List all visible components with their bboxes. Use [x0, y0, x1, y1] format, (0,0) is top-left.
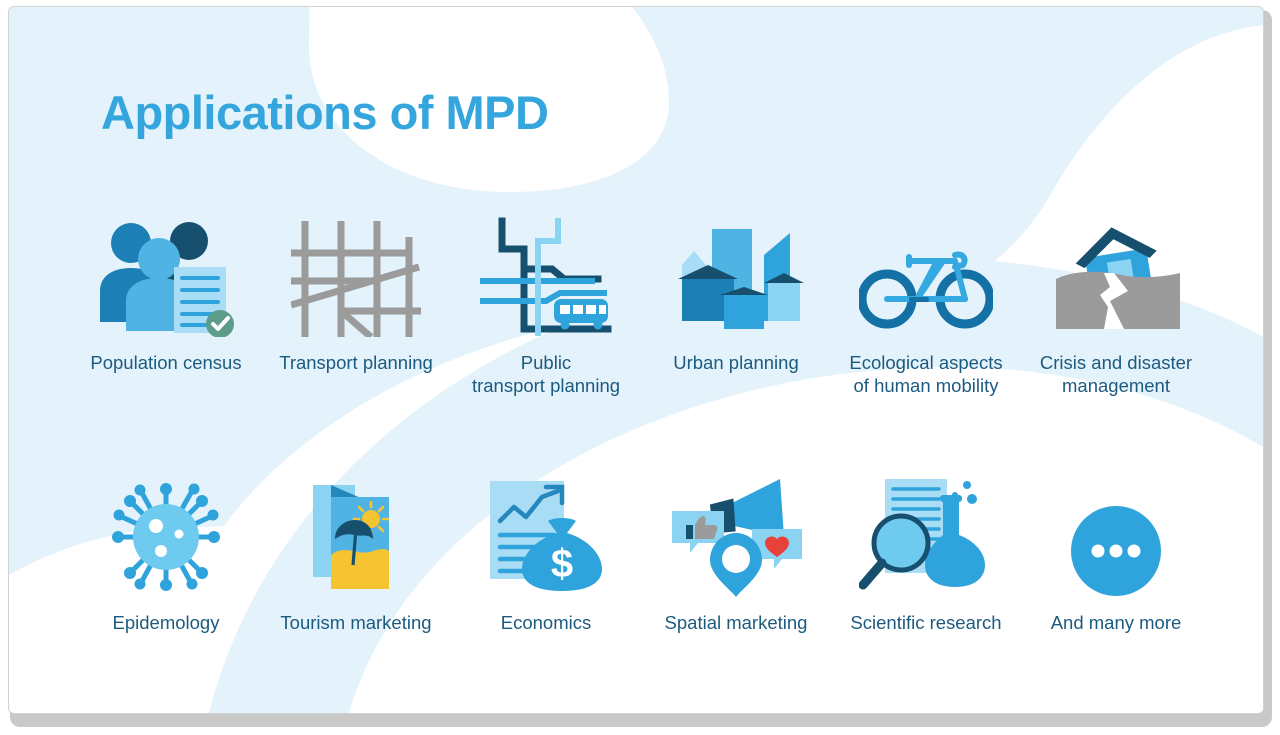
- magnifier-flask-icon: [851, 457, 1001, 597]
- megaphone-map-pin-icon: [661, 457, 811, 597]
- applications-grid-row-2: Epidemology: [71, 457, 1211, 634]
- slide-canvas: Applications of MPD: [8, 6, 1264, 714]
- slide-screen: Applications of MPD: [0, 0, 1280, 735]
- application-label: Economics: [501, 611, 591, 634]
- svg-text:$: $: [551, 542, 573, 586]
- application-label: Population census: [90, 351, 241, 374]
- ellipsis-circle-icon: [1041, 457, 1191, 597]
- street-grid-icon: [281, 207, 431, 337]
- bicycle-icon: [851, 207, 1001, 337]
- application-label: Ecological aspects of human mobility: [849, 351, 1002, 398]
- application-item-and-many-more[interactable]: And many more: [1021, 457, 1211, 634]
- application-item-tourism-marketing[interactable]: Tourism marketing: [261, 457, 451, 634]
- application-item-population-census[interactable]: Population census: [71, 207, 261, 398]
- application-item-spatial-marketing[interactable]: Spatial marketing: [641, 457, 831, 634]
- application-label: Tourism marketing: [280, 611, 431, 634]
- application-item-ecological-aspects[interactable]: Ecological aspects of human mobility: [831, 207, 1021, 398]
- application-label: Transport planning: [279, 351, 433, 374]
- earthquake-house-icon: [1041, 207, 1191, 337]
- application-label: Crisis and disaster management: [1040, 351, 1192, 398]
- application-item-economics[interactable]: $ Economics: [451, 457, 641, 634]
- application-label: Urban planning: [673, 351, 798, 374]
- application-item-urban-planning[interactable]: Urban planning: [641, 207, 831, 398]
- application-label: And many more: [1051, 611, 1182, 634]
- application-label: Epidemology: [113, 611, 220, 634]
- application-item-scientific-research[interactable]: Scientific research: [831, 457, 1021, 634]
- page-title: Applications of MPD: [101, 85, 548, 140]
- application-item-epidemology[interactable]: Epidemology: [71, 457, 261, 634]
- application-label: Public transport planning: [472, 351, 620, 398]
- people-document-check-icon: [91, 207, 241, 337]
- virus-icon: [91, 457, 241, 597]
- application-item-crisis-disaster[interactable]: Crisis and disaster management: [1021, 207, 1211, 398]
- application-item-public-transport-planning[interactable]: Public transport planning: [451, 207, 641, 398]
- transit-map-bus-icon: [471, 207, 621, 337]
- applications-grid-row-1: Population census: [71, 207, 1211, 398]
- application-label: Scientific research: [850, 611, 1001, 634]
- application-label: Spatial marketing: [665, 611, 808, 634]
- chart-money-bag-icon: $: [471, 457, 621, 597]
- application-item-transport-planning[interactable]: Transport planning: [261, 207, 451, 398]
- city-buildings-icon: [661, 207, 811, 337]
- beach-brochure-icon: [281, 457, 431, 597]
